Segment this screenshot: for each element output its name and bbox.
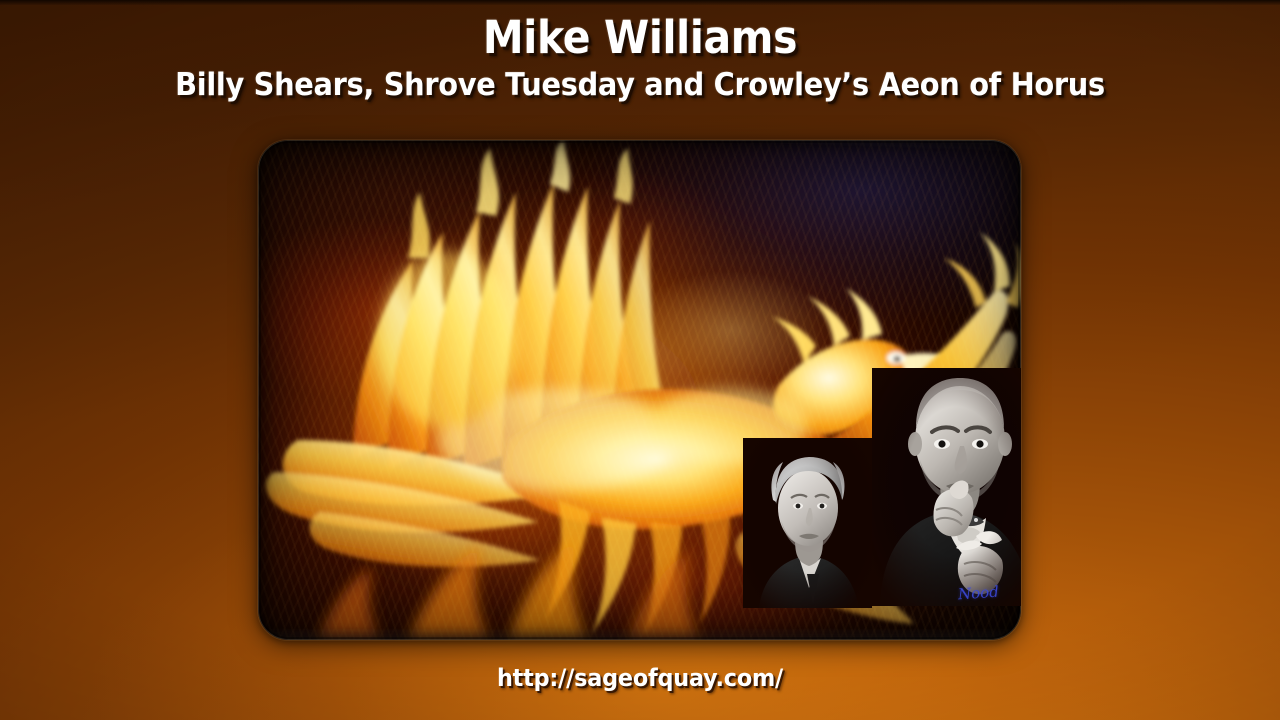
slide-stage: Mike Williams Billy Shears, Shrove Tuesd… [0, 0, 1280, 720]
page-title: Mike Williams [58, 14, 1223, 63]
aleister-crowley-vignette [872, 368, 1021, 606]
paul-mccartney-vignette [743, 438, 872, 608]
artwork-panel: Nood [258, 140, 1021, 640]
page-subtitle: Billy Shears, Shrove Tuesday and Crowley… [45, 68, 1235, 103]
footer-url[interactable]: http://sageofquay.com/ [45, 664, 1235, 692]
background-top-edge [0, 0, 1280, 5]
paul-mccartney-portrait [743, 438, 872, 608]
title-block: Mike Williams Billy Shears, Shrove Tuesd… [0, 14, 1280, 102]
aleister-crowley-portrait [872, 368, 1021, 606]
artist-signature: Nood [957, 583, 999, 604]
